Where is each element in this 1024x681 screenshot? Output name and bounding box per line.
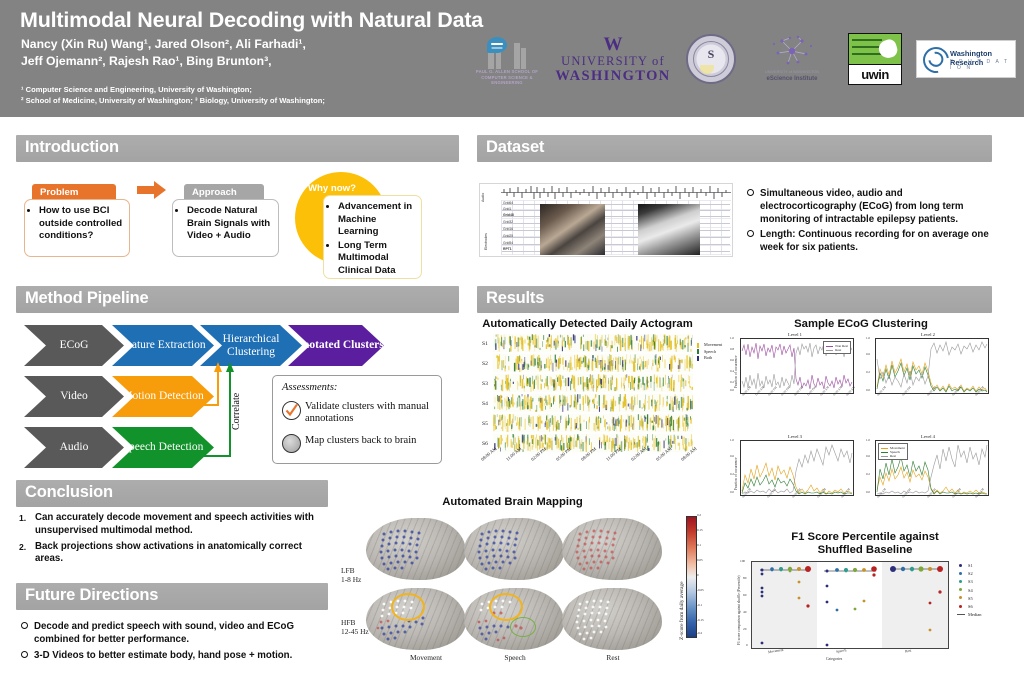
approach-bullets: Decode Natural Brain Signals with Video … <box>177 205 276 244</box>
actogram-legend: Movement Speech Both <box>697 342 722 362</box>
colorbar-tick-8: -0.15 <box>697 618 704 622</box>
bullet-marker-icon <box>21 651 28 658</box>
wrf-swirl-icon <box>918 42 954 78</box>
video-frame-2 <box>638 204 700 255</box>
correlate-label: Correlate <box>231 393 242 430</box>
actogram-ylabel-s6: S6 <box>482 441 488 447</box>
cp1-ytick-2: 0.8 <box>730 347 734 351</box>
conclusion-item-1: 1.Can accurately decode movement and spe… <box>17 512 327 538</box>
section-title-method: Method Pipeline <box>25 289 149 308</box>
f1-ytick-6: 0 <box>746 643 748 647</box>
brain-row-lfb-band: LFB <box>341 566 361 575</box>
legend-swatch-speech <box>697 349 699 354</box>
cse-speech-bubble-icon <box>487 37 507 53</box>
brain-hfb-rest <box>562 588 662 650</box>
section-title-introduction: Introduction <box>25 138 119 157</box>
wrf-line-2: F O U N D A T I O N <box>950 59 1015 71</box>
colorbar-tick-1: 0.2 <box>697 513 701 517</box>
section-header-method: Method Pipeline <box>16 286 459 313</box>
seal-logo: S <box>686 34 736 84</box>
why-now-bullet-1: Advancement in Machine Learning <box>338 201 419 239</box>
f1-xtick-speech: Speech <box>836 648 847 654</box>
f1-legend-s1: S1 <box>957 562 981 570</box>
section-title-dataset: Dataset <box>486 138 544 157</box>
clustering-level4-legend: Movement Speech Rest <box>878 443 908 460</box>
assessment-item-1-label: Validate clusters with manual annotation… <box>305 401 433 425</box>
assessments-title: Assessments: <box>282 382 337 393</box>
affiliation-1: ¹ Computer Science and Engineering, Univ… <box>21 84 325 95</box>
cp3-ytick-1: 1.0 <box>730 438 734 442</box>
electrode-label-7: Grid54 <box>503 241 513 245</box>
approach-tab-label: Approach <box>192 187 237 198</box>
f1-ytick-3: 60 <box>743 593 746 597</box>
future-item-1: Decode and predict speech with sound, vi… <box>19 621 327 647</box>
brain-mapping-title: Automated Brain Mapping <box>400 496 625 508</box>
legend-line-movement <box>881 448 888 449</box>
author-line-1: Nancy (Xin Ru) Wang¹, Jared Olson², Ali … <box>21 36 306 53</box>
brain-electrodes-lfb-speech <box>464 518 564 580</box>
problem-bullets: How to use BCI outside controlled condit… <box>29 205 127 244</box>
clustering-panel-4-title: Level 4 <box>868 434 988 439</box>
cp2-ytick-1: 1.0 <box>866 336 870 340</box>
clustering-panel-1-ylabel: Fraction of occurrence <box>734 355 738 388</box>
actogram-ylabel-s5: S5 <box>482 421 488 427</box>
section-title-results: Results <box>486 289 544 308</box>
actogram-raster <box>493 334 693 454</box>
pipeline-hierarchical-clustering-label: Hierarchical Clustering <box>200 333 302 358</box>
legend-item-rest: Rest <box>826 348 848 352</box>
uw-washington-text: WASHINGTON <box>555 68 670 84</box>
brain-colorbar <box>686 516 697 638</box>
assessment-item-2-label: Map clusters back to brain <box>305 435 433 447</box>
correlate-arrows <box>190 360 260 470</box>
why-now-label: Why now? <box>308 183 356 194</box>
audio-waveform <box>501 185 731 200</box>
future-item-2: 3-D Videos to better estimate body, hand… <box>19 650 327 663</box>
brain-row-hfb-range: 12-45 Hz <box>341 627 369 636</box>
section-header-conclusion: Conclusion <box>16 480 328 507</box>
section-header-dataset: Dataset <box>477 135 992 162</box>
clustering-panel-3-ylabel: Fraction of occurrence <box>734 457 738 490</box>
bullet-marker-icon <box>747 230 754 237</box>
check-circle-icon <box>282 401 301 420</box>
uwin-hand-icon <box>877 38 900 61</box>
f1-legend: S1 S2 S3 S4 S5 S6 Median <box>957 562 981 619</box>
section-title-future: Future Directions <box>25 586 158 605</box>
author-list: Nancy (Xin Ru) Wang¹, Jared Olson², Ali … <box>21 36 306 69</box>
cse-logo: PAUL G. ALLEN SCHOOL OF COMPUTER SCIENCE… <box>474 31 540 87</box>
poster-root: Multimodal Neural Decoding with Natural … <box>0 0 1024 681</box>
uw-w-glyph: W <box>604 35 623 54</box>
actogram-title: Automatically Detected Daily Actogram <box>480 318 695 330</box>
cp1-ytick-6: 0.0 <box>730 388 734 392</box>
f1-ytick-5: 20 <box>743 627 746 631</box>
f1-xtick-rest: Rest <box>905 649 912 654</box>
f1-legend-s5: S5 <box>957 595 981 603</box>
clustering-level3-lines <box>741 441 853 495</box>
conclusion-item-2-text: Back projections show activations in ana… <box>35 541 302 565</box>
uwin-logo: uwin <box>848 33 902 85</box>
pipeline-video[interactable]: Video <box>24 376 124 417</box>
wrf-logo: Washington Research F O U N D A T I O N <box>916 40 1016 78</box>
f1-ytick-4: 40 <box>743 610 746 614</box>
f1-title: F1 Score Percentile against Shuffled Bas… <box>760 531 970 557</box>
clustering-title: Sample ECoG Clustering <box>730 318 992 330</box>
f1-plot <box>751 561 949 649</box>
brain-row-label-lfb: LFB 1-8 Hz <box>341 566 361 584</box>
poster-header: Multimodal Neural Decoding with Natural … <box>0 0 1024 117</box>
pipeline-ecog[interactable]: ECoG <box>24 325 124 366</box>
escience-sub-text: UNIVERSITY of WASHINGTON <box>765 70 819 74</box>
pipeline-audio[interactable]: Audio <box>24 427 124 468</box>
pipeline-annotated-clusters[interactable]: Annotated Clusters <box>288 325 384 366</box>
cp2-ytick-2: 0.6 <box>866 352 870 356</box>
highlight-circle-green <box>510 617 536 637</box>
seal-letter: S <box>688 47 734 62</box>
dataset-bullet-1: Simultaneous video, audio and electrocor… <box>745 188 995 226</box>
brain-lfb-speech <box>464 518 564 580</box>
actogram-ylabel-s2: S2 <box>482 361 488 367</box>
electrode-label-8: RPT1 <box>503 247 512 251</box>
brain-col-label-movement: Movement <box>396 653 456 662</box>
actogram-legend-both: Both <box>697 355 722 362</box>
future-list: Decode and predict speech with sound, vi… <box>19 621 327 665</box>
electrode-label-6: Grid25 <box>503 234 513 238</box>
problem-bullet-1: How to use BCI outside controlled condit… <box>39 205 127 243</box>
legend-swatch-both <box>697 356 699 361</box>
actogram-ylabel-s3: S3 <box>482 381 488 387</box>
uwin-line-1 <box>852 39 882 41</box>
conclusion-item-2: 2.Back projections show activations in a… <box>17 541 327 567</box>
brain-row-hfb-band: HFB <box>341 618 369 627</box>
brain-row-label-hfb: HFB 12-45 Hz <box>341 618 369 636</box>
actogram-legend-speech: Speech <box>697 349 722 356</box>
electrode-label-4: Grid32 <box>503 220 513 224</box>
f1-ytick-1: 100 <box>740 559 745 563</box>
brain-hfb-movement <box>366 588 466 650</box>
clustering-panel-level1: Non Rest Rest <box>740 338 854 394</box>
cp4-ytick-3: 0.2 <box>866 472 870 476</box>
cp4-ytick-2: 0.6 <box>866 454 870 458</box>
actogram-legend-movement: Movement <box>697 342 722 349</box>
f1-legend-s2: S2 <box>957 570 981 578</box>
cp1-ytick-3: 0.6 <box>730 358 734 362</box>
f1-ylabel: F1 score comparison against shuffle (Per… <box>737 576 741 646</box>
brain-electrodes-lfb-movement <box>366 518 466 580</box>
legend-line-speech <box>881 452 888 453</box>
pipeline-annotated-clusters-label: Annotated Clusters <box>288 339 384 352</box>
future-item-2-text: 3-D Videos to better estimate body, hand… <box>34 650 292 661</box>
f1-legend-s4: S4 <box>957 587 981 595</box>
problem-tab-label: Problem <box>40 187 78 198</box>
brain-colorbar-label: Z-score from daily average <box>679 581 685 640</box>
actogram-plot <box>493 334 693 454</box>
colorbar-tick-9: -0.2 <box>697 631 702 635</box>
clustering-level2-lines <box>876 339 988 393</box>
section-title-conclusion: Conclusion <box>25 483 113 502</box>
why-now-bullets: Advancement in Machine Learning Long Ter… <box>328 201 419 279</box>
legend-dot-s2 <box>959 572 962 575</box>
sponsor-logos: PAUL G. ALLEN SCHOOL OF COMPUTER SCIENCE… <box>474 26 1016 92</box>
approach-bullet-1: Decode Natural Brain Signals with Video … <box>187 205 276 243</box>
f1-title-line-2: Shuffled Baseline <box>760 544 970 557</box>
bullet-marker-icon <box>747 189 754 196</box>
affiliations: ¹ Computer Science and Engineering, Univ… <box>21 84 325 106</box>
why-now-box: Advancement in Machine Learning Long Ter… <box>323 195 422 279</box>
clustering-panel-2-title: Level 2 <box>868 332 988 337</box>
colorbar-tick-6: -0.05 <box>697 588 704 592</box>
brain-col-label-rest: Rest <box>583 653 643 662</box>
escience-network-icon <box>768 35 816 65</box>
f1-legend-s6: S6 <box>957 603 981 611</box>
pipeline-feature-extraction-label: Feature Extraction <box>120 339 205 352</box>
cp3-ytick-2: 0.6 <box>730 454 734 458</box>
cp1-ytick-4: 0.4 <box>730 369 734 373</box>
colorbar-tick-2: 0.15 <box>697 528 703 532</box>
brain-lfb-movement <box>366 518 466 580</box>
legend-dot-s3 <box>959 580 962 583</box>
conclusion-list: 1.Can accurately decode movement and spe… <box>17 512 327 569</box>
uwin-wordmark: uwin <box>849 64 901 84</box>
bullet-marker-icon <box>21 622 28 629</box>
uw-university-text: UNIVERSITY of <box>561 54 665 68</box>
legend-line-rest <box>826 350 833 351</box>
brain-row-lfb-range: 1-8 Hz <box>341 575 361 584</box>
uwin-line-2 <box>852 46 882 48</box>
brain-col-label-speech: Speech <box>485 653 545 662</box>
dataset-bullets: Simultaneous video, audio and electrocor… <box>745 188 995 258</box>
legend-dot-s4 <box>959 588 962 591</box>
dataset-bullet-2: Length: Continuous recording for on aver… <box>745 229 995 255</box>
colorbar-tick-5: 0 <box>697 573 699 577</box>
escience-logo: UNIVERSITY of WASHINGTON eScience Instit… <box>750 33 834 85</box>
brain-electrodes-hfb-rest <box>562 588 662 650</box>
highlight-circle-yellow <box>391 593 425 621</box>
dataset-figure: Audio Electrodes Grid64 Grid1 Grid48 Gri… <box>479 183 733 257</box>
affiliation-2: ² School of Medicine, University of Wash… <box>21 95 325 106</box>
cp3-ytick-4: 0.0 <box>730 490 734 494</box>
clustering-level1-legend: Non Rest Rest <box>823 341 851 354</box>
legend-item-rest: Rest <box>881 454 905 458</box>
uwin-line-3 <box>852 53 882 55</box>
electrode-label-1: Grid64 <box>503 201 513 205</box>
actogram-ylabel-s4: S4 <box>482 401 488 407</box>
f1-xtick-movement: Movement <box>768 648 784 654</box>
cp1-ytick-1: 1.0 <box>730 336 734 340</box>
section-header-results: Results <box>477 286 992 313</box>
electrode-label-3: Grid48 <box>503 213 514 217</box>
escience-name-text: eScience Institute <box>766 76 817 82</box>
colorbar-tick-7: -0.1 <box>697 603 702 607</box>
future-item-1-text: Decode and predict speech with sound, vi… <box>34 621 294 645</box>
legend-dot-s6 <box>959 605 962 608</box>
legend-dot-s5 <box>959 596 962 599</box>
cp1-ytick-5: 0.2 <box>730 380 734 384</box>
brain-lfb-rest <box>562 518 662 580</box>
cp2-ytick-3: 0.2 <box>866 370 870 374</box>
electrode-label-5: Grid16 <box>503 227 513 231</box>
legend-line-median <box>957 614 965 615</box>
colorbar-tick-4: 0.05 <box>697 558 703 562</box>
brain-electrodes-lfb-rest <box>562 518 662 580</box>
pipeline-ecog-label: ECoG <box>60 339 89 352</box>
brain-hfb-speech <box>464 588 564 650</box>
legend-swatch-movement <box>697 343 699 348</box>
author-line-2: Jeff Ojemann², Rajesh Rao¹, Bing Brunton… <box>21 53 306 70</box>
pipeline-video-label: Video <box>60 390 87 403</box>
f1-ytick-2: 80 <box>743 576 746 580</box>
section-header-future: Future Directions <box>16 583 328 610</box>
legend-line-rest <box>881 456 888 457</box>
electrode-label-2: Grid1 <box>503 207 511 211</box>
conclusion-item-1-number: 1. <box>19 512 26 525</box>
f1-xlabel: Categories <box>826 657 842 661</box>
cse-logo-caption: PAUL G. ALLEN SCHOOL OF COMPUTER SCIENCE… <box>474 69 540 86</box>
approach-box: Decode Natural Brain Signals with Video … <box>172 199 279 257</box>
flow-arrow-icon <box>137 180 167 200</box>
uw-logo: W UNIVERSITY of WASHINGTON <box>554 33 672 85</box>
why-now-bullet-2: Long Term Multimodal Clinical Data <box>338 240 419 278</box>
dataset-axis-electrodes: Electrodes <box>484 233 488 250</box>
page-title: Multimodal Neural Decoding with Natural … <box>20 8 483 33</box>
colorbar-tick-3: 0.1 <box>697 543 701 547</box>
clustering-panel-3-title: Level 3 <box>735 434 855 439</box>
cp3-ytick-3: 0.2 <box>730 472 734 476</box>
conclusion-item-2-number: 2. <box>19 541 26 554</box>
legend-dot-s1 <box>959 564 962 567</box>
f1-title-line-1: F1 Score Percentile against <box>760 531 970 544</box>
cp4-ytick-1: 1.0 <box>866 438 870 442</box>
f1-legend-median: Median <box>957 611 981 619</box>
cp2-ytick-4: 0.0 <box>866 388 870 392</box>
conclusion-item-1-text: Can accurately decode movement and speec… <box>35 512 314 536</box>
clustering-panel-1-title: Level 1 <box>735 332 855 337</box>
section-header-introduction: Introduction <box>16 135 459 162</box>
f1-legend-s3: S3 <box>957 578 981 586</box>
pipeline-audio-label: Audio <box>60 441 89 454</box>
f1-scatter-points <box>752 562 948 648</box>
brain-circle-icon <box>282 434 301 453</box>
legend-line-non-rest <box>826 346 833 347</box>
uwin-green-field <box>849 34 901 64</box>
actogram-ylabel-s1: S1 <box>482 341 488 347</box>
assessments-box: Assessments: Validate clusters with manu… <box>272 375 442 464</box>
cp4-ytick-4: 0.0 <box>866 490 870 494</box>
escience-logo-caption: UNIVERSITY of WASHINGTON eScience Instit… <box>750 69 834 83</box>
problem-box: How to use BCI outside controlled condit… <box>24 199 130 257</box>
video-frame-1 <box>540 204 605 255</box>
dataset-axis-audio: Audio <box>481 193 485 202</box>
